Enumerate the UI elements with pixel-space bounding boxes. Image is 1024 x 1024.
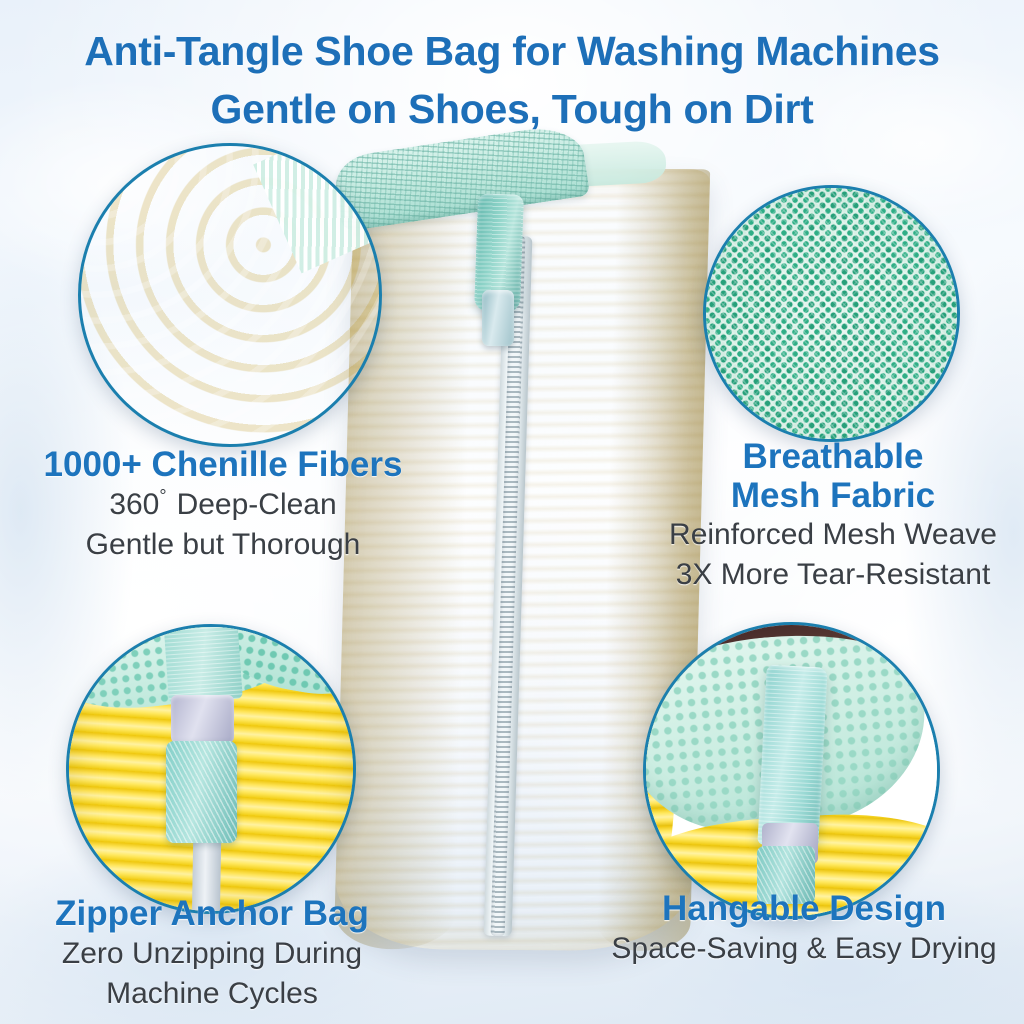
zipper-callout-anchor-sleeve [166,741,237,843]
degree-symbol: ° [159,486,176,506]
feature-sub-mesh-line2: 3X More Tear-Resistant [642,555,1024,595]
title-line-2: Gentle on Shoes, Tough on Dirt [0,80,1024,138]
hanging-strap [758,664,828,847]
feature-heading-chenille-fibers: 1000+ Chenille Fibers [0,444,446,485]
callout-hangable-design [643,622,940,919]
feature-sub-zipper-line1: Zero Unzipping During [0,934,424,974]
feature-heading-zipper-anchor: Zipper Anchor Bag [0,893,424,934]
feature-heading-mesh-line2: Mesh Fabric [642,476,1024,515]
feature-hangable-design: Hangable Design Space-Saving & Easy Dryi… [584,888,1024,969]
zipper-callout-strap [163,624,243,703]
product-infographic: Anti-Tangle Shoe Bag for Washing Machine… [0,0,1024,1024]
feature-sub-chenille-line1: 360°Deep-Clean [0,485,446,525]
feature-sub-zipper-line2: Machine Cycles [0,974,424,1014]
zipper-slider [482,290,514,346]
page-title: Anti-Tangle Shoe Bag for Washing Machine… [0,22,1024,138]
callout-chenille-fibers [78,143,382,447]
mesh-weave-lines [706,188,957,439]
feature-breathable-mesh: Breathable Mesh Fabric Reinforced Mesh W… [642,437,1024,595]
feature-chenille-fibers: 1000+ Chenille Fibers 360°Deep-Clean Gen… [0,444,446,565]
callout-zipper-anchor [66,624,356,914]
feature-heading-mesh-line1: Breathable [642,437,1024,476]
feature-heading-hangable: Hangable Design [584,888,1024,929]
feature-zipper-anchor: Zipper Anchor Bag Zero Unzipping During … [0,893,424,1014]
feature-sub-mesh-line1: Reinforced Mesh Weave [642,515,1024,555]
feature-sub-hangable-line1: Space-Saving & Easy Drying [584,929,1024,969]
deep-clean-label: Deep-Clean [177,488,337,521]
title-line-1: Anti-Tangle Shoe Bag for Washing Machine… [0,22,1024,80]
callout-breathable-mesh [703,185,960,442]
zipper-callout-pull [171,695,233,743]
feature-sub-chenille-line2: Gentle but Thorough [0,525,446,565]
deep-clean-degrees-value: 360 [109,488,159,521]
